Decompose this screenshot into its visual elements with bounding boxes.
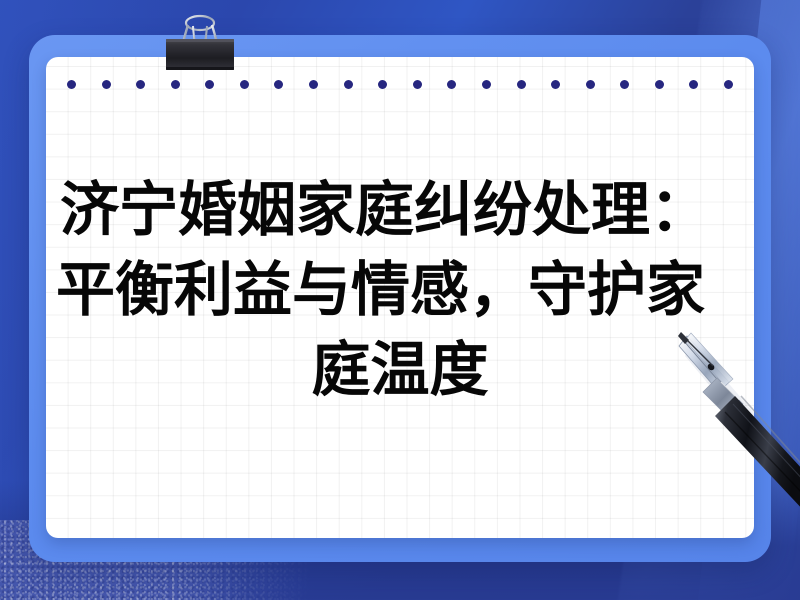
punch-dot xyxy=(517,80,526,89)
punch-dot xyxy=(378,80,387,89)
poster-canvas: 济宁婚姻家庭纠纷处理： 平衡利益与情感，守护家 庭温度 xyxy=(0,0,800,600)
punch-dot xyxy=(344,80,353,89)
punch-dot xyxy=(586,80,595,89)
punch-dot-row xyxy=(46,78,754,90)
punch-dot xyxy=(309,80,318,89)
grid-paper-sheet xyxy=(46,57,754,538)
punch-dot xyxy=(205,80,214,89)
binder-clip-icon xyxy=(152,12,248,76)
punch-dot xyxy=(689,80,698,89)
punch-dot xyxy=(724,80,733,89)
punch-dot xyxy=(447,80,456,89)
punch-dot xyxy=(240,80,249,89)
punch-dot xyxy=(482,80,491,89)
punch-dot xyxy=(67,80,76,89)
punch-dot xyxy=(413,80,422,89)
punch-dot xyxy=(136,80,145,89)
punch-dot xyxy=(102,80,111,89)
punch-dot xyxy=(171,80,180,89)
punch-dot xyxy=(620,80,629,89)
punch-dot xyxy=(655,80,664,89)
punch-dot xyxy=(551,80,560,89)
punch-dot xyxy=(274,80,283,89)
fountain-pen-icon xyxy=(655,322,800,522)
